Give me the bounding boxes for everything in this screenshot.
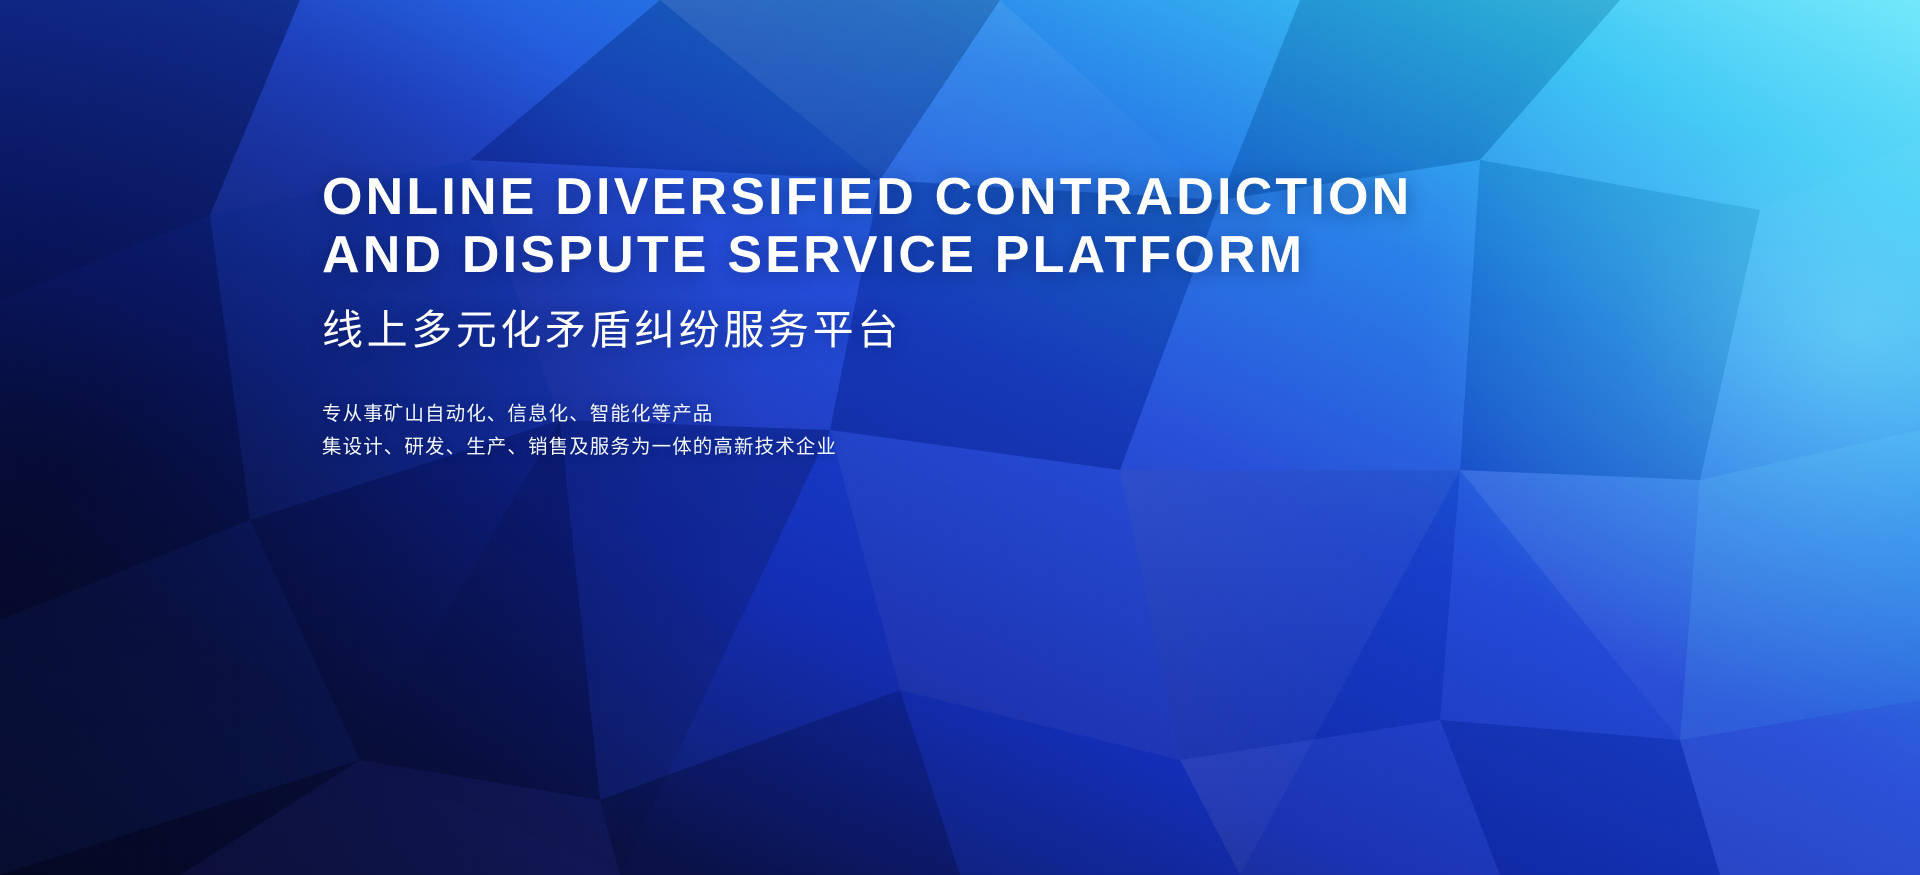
hero-subtitle-chinese: 线上多元化矛盾纠纷服务平台 <box>322 306 1412 354</box>
headline-line-1: ONLINE DIVERSIFIED CONTRADICTION <box>322 168 1412 226</box>
headline-line-2: AND DISPUTE SERVICE PLATFORM <box>322 226 1412 284</box>
hero-body-copy: 专从事矿山自动化、信息化、智能化等产品 集设计、研发、生产、销售及服务为一体的高… <box>322 398 1412 464</box>
body-copy-line-1: 专从事矿山自动化、信息化、智能化等产品 <box>322 398 1412 431</box>
hero-banner: ONLINE DIVERSIFIED CONTRADICTION AND DIS… <box>0 0 1920 875</box>
hero-headline-english: ONLINE DIVERSIFIED CONTRADICTION AND DIS… <box>322 168 1412 284</box>
hero-text-block: ONLINE DIVERSIFIED CONTRADICTION AND DIS… <box>322 168 1412 464</box>
body-copy-line-2: 集设计、研发、生产、销售及服务为一体的高新技术企业 <box>322 431 1412 464</box>
